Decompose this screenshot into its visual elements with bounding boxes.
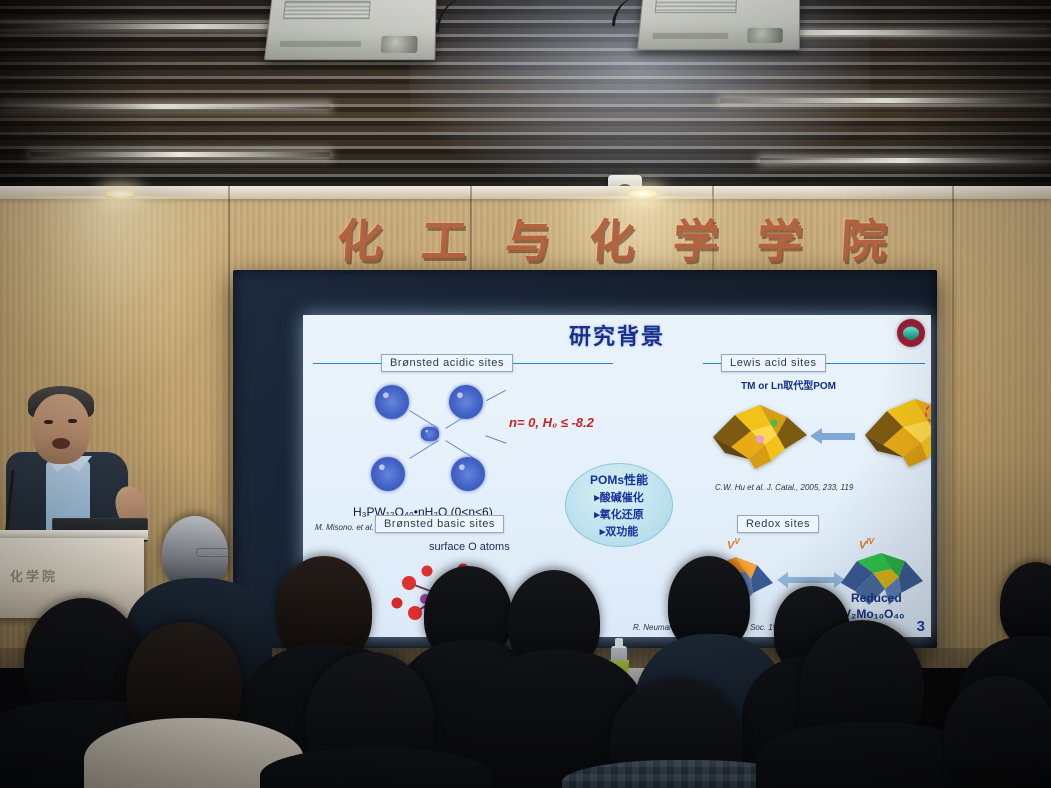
polyoxometalate-polyhedron-left <box>705 397 815 475</box>
projector-vent <box>283 1 370 20</box>
projector-label <box>280 41 361 47</box>
slide-number: 3 <box>917 618 925 635</box>
poms-bubble-bullet: ▸氧化还原 <box>594 506 644 522</box>
molecular-bond <box>485 435 506 443</box>
wall-cornice <box>0 186 1051 199</box>
keggin-cluster <box>451 457 485 491</box>
bridging-water-cluster <box>421 427 439 441</box>
wall-sign-char: 学 <box>672 218 720 264</box>
projector-vent <box>654 0 737 13</box>
slide-title: 研究背景 <box>303 319 931 351</box>
redox-equilibrium-arrow <box>787 577 835 583</box>
label-redox-sites: Redox sites <box>737 515 819 533</box>
poms-properties-bubble: POMs性能 ▸酸碱催化 ▸氧化还原 ▸双功能 <box>565 463 673 547</box>
presenter-eye <box>44 420 53 424</box>
podium-label: 化学院 <box>10 566 130 585</box>
ceiling-projector-left <box>264 0 437 60</box>
acidity-annotation: n= 0, H₀ ≤ -8.2 <box>509 415 594 430</box>
eyeglasses-icon <box>196 548 230 557</box>
wall-sign-char: 化 <box>588 218 636 264</box>
ceiling-shadow-left <box>0 0 150 186</box>
redox-species-left: VV <box>727 537 740 552</box>
wall-sign-char: 院 <box>840 218 888 264</box>
ceiling-downlight <box>105 190 135 198</box>
projector-lens <box>748 28 783 43</box>
label-bronsted-acidic: Brønsted acidic sites <box>381 354 513 372</box>
bronsted-basic-annotation: surface O atoms <box>429 541 510 553</box>
lewis-acid-reference: C.W. Hu et al. J. Catal., 2005, 233, 119 <box>715 483 853 492</box>
ceiling-projector-right <box>637 0 800 50</box>
poms-bubble-heading: POMs性能 <box>590 471 648 488</box>
audience-head <box>944 676 1051 788</box>
polyoxometalate-polyhedron-right <box>859 391 931 473</box>
downlight-glow <box>0 196 230 386</box>
ceiling-downlight <box>628 190 658 198</box>
poms-bubble-bullet: ▸双功能 <box>600 523 639 539</box>
presentation-slide: 研究背景 Brønsted acidic sites Lewis acid si… <box>303 315 931 637</box>
projector-lens <box>381 36 419 53</box>
wall-panel-seam <box>952 186 954 668</box>
keggin-cluster <box>375 385 409 419</box>
lecture-hall-photo: 化 工 与 化 学 学 院 研究背景 Brønsted acidic sites… <box>0 0 1051 788</box>
presenter-face <box>32 394 90 464</box>
lewis-acid-subtitle: TM or Ln取代型POM <box>741 377 836 392</box>
redox-reduced-formula: V₂Mo₁₀O₄₀ <box>843 607 905 621</box>
presenter-eye <box>68 419 77 423</box>
wall-sign-char: 工 <box>420 218 468 264</box>
wall-signage: 化 工 与 化 学 学 院 <box>322 208 902 274</box>
ceiling-slats <box>0 0 1051 186</box>
wall-sign-char: 学 <box>756 218 804 264</box>
poms-bubble-bullet: ▸酸碱催化 <box>594 489 644 505</box>
label-bronsted-basic: Brønsted basic sites <box>375 515 504 533</box>
molecular-bond <box>486 390 506 401</box>
redox-reduced-label: Reduced <box>851 591 902 605</box>
label-lewis-acid: Lewis acid sites <box>721 354 826 372</box>
wall-sign-char: 与 <box>504 218 552 264</box>
presenter-mouth <box>52 438 70 449</box>
projector-label <box>652 33 729 39</box>
university-crest-icon <box>897 319 925 347</box>
wall-sign-char: 化 <box>336 218 384 264</box>
substitution-arrow <box>821 433 855 440</box>
keggin-cluster <box>371 457 405 491</box>
ceiling-shadow-right <box>901 0 1051 186</box>
